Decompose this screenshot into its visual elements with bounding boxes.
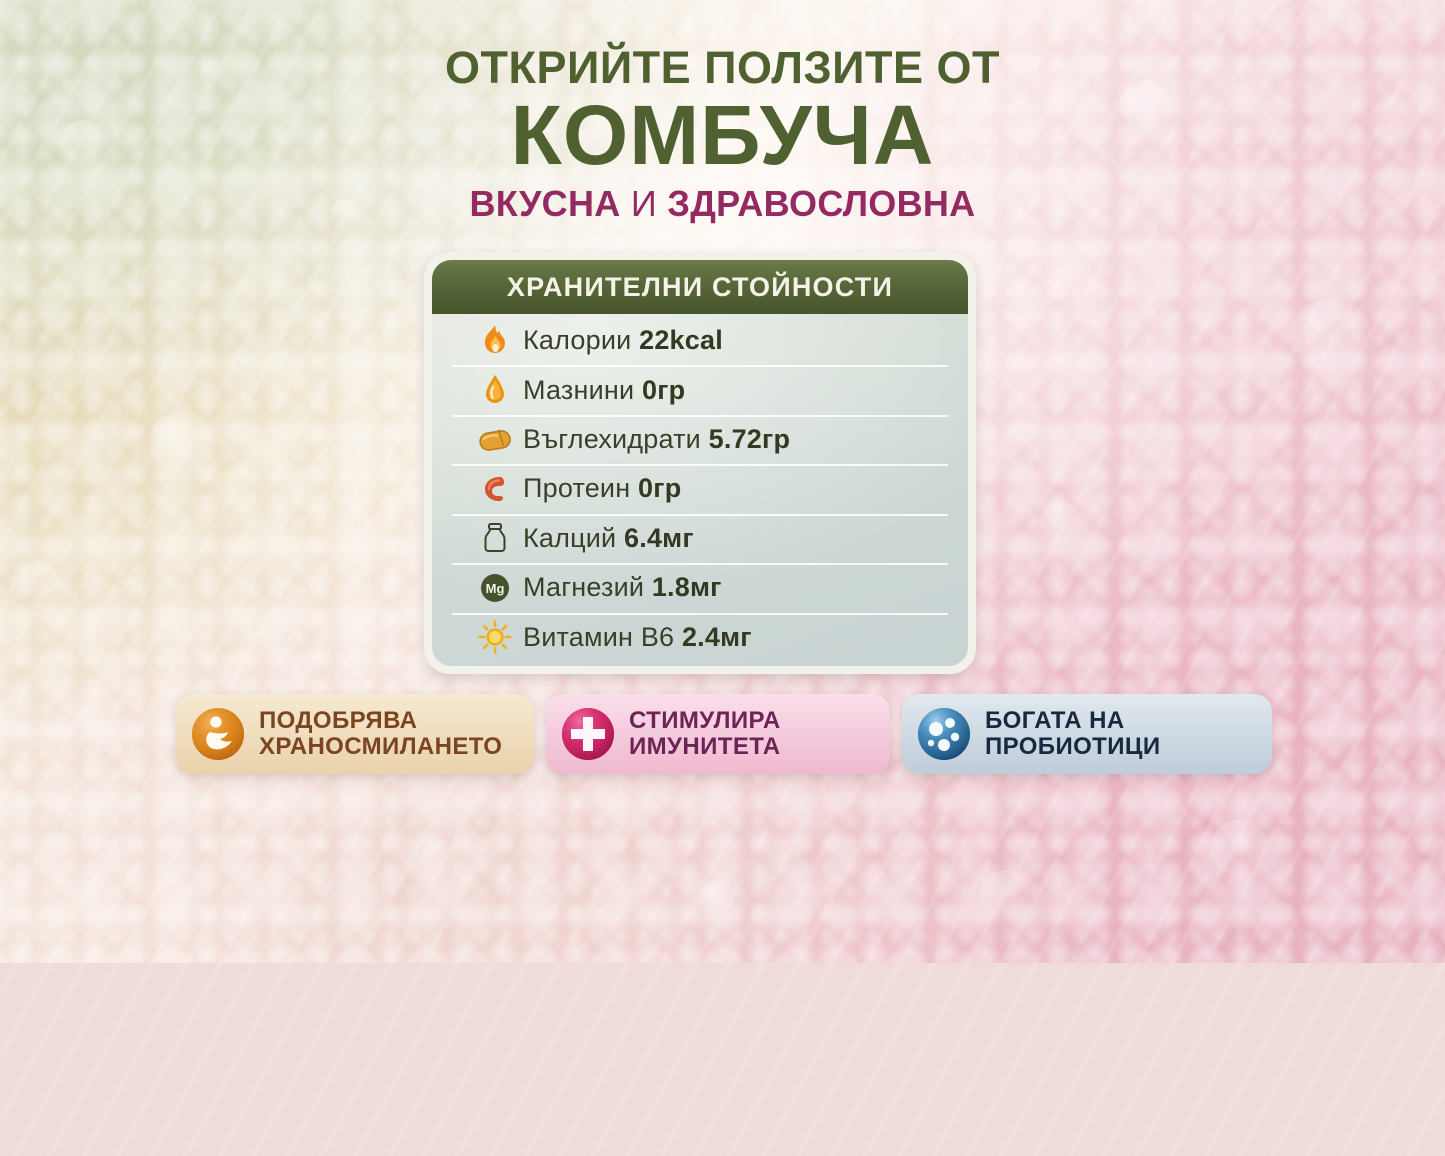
badge-line-1: СТИМУЛИРА — [629, 708, 781, 734]
nutrition-row-text: Калций 6.4мг — [523, 523, 694, 554]
nutrition-value: 6.4мг — [624, 523, 694, 553]
nutrition-label: Калций — [523, 523, 616, 553]
bread-icon — [478, 422, 512, 458]
badge-immunity[interactable]: СТИМУЛИРА ИМУНИТЕТА — [546, 694, 890, 774]
medical-cross-icon — [560, 706, 616, 762]
bokeh-dot — [20, 560, 58, 598]
flame-icon — [478, 323, 512, 359]
nutrition-row-text: Калории 22kcal — [523, 325, 723, 356]
nutrition-row-magnesium: Mg Магнезий 1.8мг — [432, 563, 968, 612]
bokeh-dot — [1290, 300, 1362, 372]
nutrition-card-header: ХРАНИТЕЛНИ СТОЙНОСТИ — [432, 260, 968, 314]
nutrition-label: Витамин B6 — [523, 622, 674, 652]
bokeh-dot — [150, 410, 214, 474]
svg-text:Mg: Mg — [486, 581, 505, 596]
nutrition-value: 22kcal — [639, 325, 723, 355]
nutrition-row-text: Въглехидрати 5.72гр — [523, 424, 790, 455]
bokeh-dot — [1040, 500, 1080, 540]
sun-icon — [478, 619, 512, 655]
subtitle-word-healthy: ЗДРАВОСЛОВНА — [667, 183, 975, 224]
headline-line-1: ОТКРИЙТЕ ПОЛЗИТЕ ОТ — [0, 44, 1445, 91]
nutrition-row-protein: Протеин 0гр — [432, 464, 968, 513]
badge-line-1: ПОДОБРЯВА — [259, 708, 502, 734]
headline-block: ОТКРИЙТЕ ПОЛЗИТЕ ОТ КОМБУЧА ВКУСНА И ЗДР… — [0, 44, 1445, 223]
nutrition-card-title: ХРАНИТЕЛНИ СТОЙНОСТИ — [507, 272, 893, 303]
probiotics-icon — [916, 706, 972, 762]
bokeh-dot — [1210, 820, 1268, 878]
badge-line-1: БОГАТА НА — [985, 708, 1160, 734]
nutrition-label: Калории — [523, 325, 631, 355]
milk-jar-icon — [478, 520, 512, 556]
nutrition-label: Протеин — [523, 473, 630, 503]
nutrition-row-text: Витамин B6 2.4мг — [523, 622, 752, 653]
nutrition-value: 0гр — [642, 375, 685, 405]
nutrition-value: 0гр — [638, 473, 681, 503]
nutrition-facts-card: ХРАНИТЕЛНИ СТОЙНОСТИ Калории 22kcal — [424, 252, 976, 674]
bokeh-dot — [420, 840, 464, 884]
page-title: КОМБУЧА — [0, 93, 1445, 179]
nutrition-row-carbohydrates: Въглехидрати 5.72гр — [432, 415, 968, 464]
nutrition-label: Магнезий — [523, 572, 644, 602]
nutrition-value: 2.4мг — [682, 622, 752, 652]
nutrition-row-text: Магнезий 1.8мг — [523, 572, 722, 603]
nutrition-row-calcium: Калций 6.4мг — [432, 514, 968, 563]
badge-line-2: ПРОБИОТИЦИ — [985, 734, 1160, 760]
nutrition-row-vitamin-b6: Витамин B6 2.4мг — [432, 613, 968, 662]
badge-digestion-text: ПОДОБРЯВА ХРАНОСМИЛАНЕТО — [259, 708, 502, 760]
subtitle-word-tasty: ВКУСНА — [470, 183, 621, 224]
digestion-icon — [190, 706, 246, 762]
nutrition-row-calories: Калории 22kcal — [432, 316, 968, 365]
badge-immunity-text: СТИМУЛИРА ИМУНИТЕТА — [629, 708, 781, 760]
badge-probiotics-text: БОГАТА НА ПРОБИОТИЦИ — [985, 708, 1160, 760]
bokeh-dot — [980, 870, 1030, 920]
headline-subtitle: ВКУСНА И ЗДРАВОСЛОВНА — [0, 185, 1445, 223]
nutrition-row-text: Мазнини 0гр — [523, 375, 685, 406]
droplet-icon — [478, 372, 512, 408]
nutrition-row-text: Протеин 0гр — [523, 473, 681, 504]
nutrition-label: Мазнини — [523, 375, 634, 405]
benefit-badges: ПОДОБРЯВА ХРАНОСМИЛАНЕТО СТИМУЛИРА — [0, 694, 1445, 780]
badge-line-2: ХРАНОСМИЛАНЕТО — [259, 734, 502, 760]
badge-probiotics[interactable]: БОГАТА НА ПРОБИОТИЦИ — [902, 694, 1272, 774]
badge-line-2: ИМУНИТЕТА — [629, 734, 781, 760]
nutrition-label: Въглехидрати — [523, 424, 701, 454]
muscle-icon — [478, 471, 512, 507]
bokeh-dot — [700, 880, 734, 914]
nutrition-row-fat: Мазнини 0гр — [432, 365, 968, 414]
magnesium-icon: Mg — [478, 570, 512, 606]
nutrition-rows: Калории 22kcal Мазнини 0гр — [432, 314, 968, 666]
nutrition-value: 5.72гр — [709, 424, 791, 454]
subtitle-word-and: И — [631, 183, 657, 224]
nutrition-value: 1.8мг — [652, 572, 722, 602]
badge-digestion[interactable]: ПОДОБРЯВА ХРАНОСМИЛАНЕТО — [176, 694, 534, 774]
